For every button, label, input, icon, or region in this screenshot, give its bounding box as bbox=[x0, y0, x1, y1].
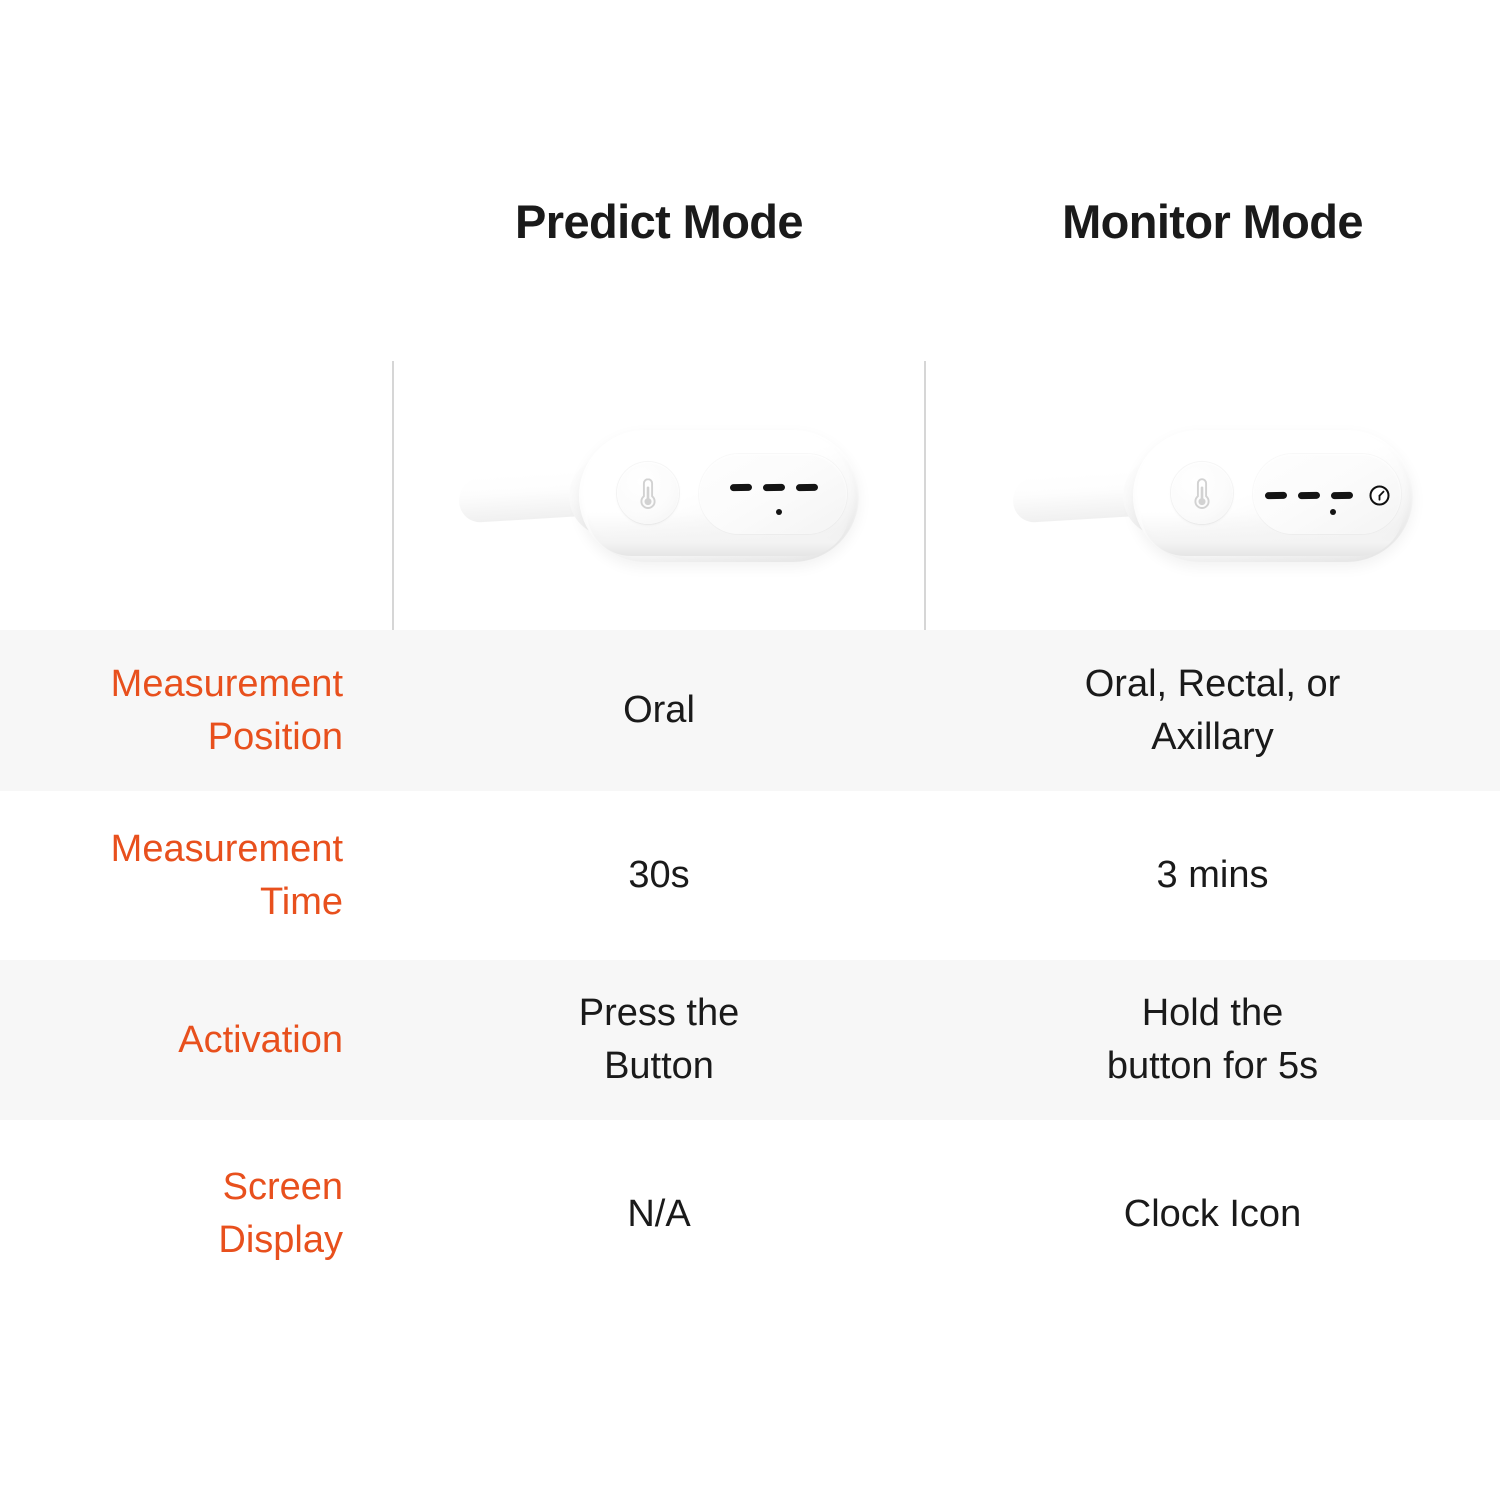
row-label-line: Screen bbox=[218, 1161, 343, 1214]
row-label-line: Measurement bbox=[111, 658, 343, 711]
thermometer-predict bbox=[459, 416, 859, 576]
cell-monitor-activation: Hold the button for 5s bbox=[925, 960, 1500, 1120]
cell-value-line: 3 mins bbox=[1157, 849, 1269, 902]
display-decimal-dot bbox=[1330, 509, 1336, 515]
cell-value-line: Oral bbox=[623, 684, 695, 737]
row-label-measurement-position: Measurement Position bbox=[0, 630, 393, 791]
cell-value-line: Axillary bbox=[1085, 711, 1341, 764]
row-label-line: Position bbox=[111, 711, 343, 764]
cell-value-line: 30s bbox=[628, 849, 689, 902]
display-dash-2 bbox=[763, 483, 785, 490]
table-row: Measurement Time 30s 3 mins bbox=[0, 791, 1500, 960]
row-label-line: Display bbox=[218, 1214, 343, 1267]
row-label-activation: Activation bbox=[0, 960, 393, 1120]
row-label-line: Measurement bbox=[111, 823, 343, 876]
table-row: Screen Display N/A Clock Icon bbox=[0, 1120, 1500, 1308]
column-header-monitor-mode: Monitor Mode bbox=[925, 190, 1500, 254]
thermometer-icon bbox=[635, 476, 661, 510]
device-image-predict bbox=[393, 361, 925, 630]
table-row: Measurement Position Oral Oral, Rectal, … bbox=[0, 630, 1500, 791]
display-segment-group bbox=[1253, 484, 1401, 507]
row-label-line: Activation bbox=[178, 1014, 343, 1067]
row-label-screen-display: Screen Display bbox=[0, 1120, 393, 1308]
thermometer-monitor bbox=[1013, 416, 1413, 576]
product-image-band bbox=[0, 361, 1500, 630]
cell-predict-measurement-position: Oral bbox=[393, 630, 925, 791]
cell-value-line: button for 5s bbox=[1107, 1040, 1318, 1093]
cell-value-line: N/A bbox=[627, 1188, 690, 1241]
cell-predict-measurement-time: 30s bbox=[393, 791, 925, 960]
cell-predict-activation: Press the Button bbox=[393, 960, 925, 1120]
display-dash-3 bbox=[1330, 491, 1352, 498]
display-dash-1 bbox=[730, 483, 752, 490]
thermometer-power-button[interactable] bbox=[617, 462, 679, 524]
cell-monitor-measurement-time: 3 mins bbox=[925, 791, 1500, 960]
thermometer-display-screen bbox=[699, 454, 847, 534]
display-dash-2 bbox=[1297, 491, 1319, 498]
cell-monitor-screen-display: Clock Icon bbox=[925, 1120, 1500, 1308]
clock-icon bbox=[1368, 484, 1391, 507]
display-dash-3 bbox=[796, 483, 818, 490]
cell-value-line: Button bbox=[579, 1040, 740, 1093]
row-label-measurement-time: Measurement Time bbox=[0, 791, 393, 960]
cell-value-line: Hold the bbox=[1107, 987, 1318, 1040]
table-row: Activation Press the Button Hold the but… bbox=[0, 960, 1500, 1120]
cell-value-line: Oral, Rectal, or bbox=[1085, 658, 1341, 711]
column-header-predict-mode: Predict Mode bbox=[393, 190, 925, 254]
thermometer-icon bbox=[1189, 476, 1215, 510]
display-decimal-dot bbox=[776, 509, 782, 515]
display-dash-1 bbox=[1264, 491, 1286, 498]
cell-monitor-measurement-position: Oral, Rectal, or Axillary bbox=[925, 630, 1500, 791]
cell-predict-screen-display: N/A bbox=[393, 1120, 925, 1308]
row-label-line: Time bbox=[111, 876, 343, 929]
display-segment-group bbox=[699, 484, 847, 491]
comparison-table: Measurement Position Oral Oral, Rectal, … bbox=[0, 630, 1500, 1308]
column-headers: Predict Mode Monitor Mode bbox=[0, 190, 1500, 262]
cell-value-line: Press the bbox=[579, 987, 740, 1040]
thermometer-display-screen bbox=[1253, 454, 1401, 534]
cell-value-line: Clock Icon bbox=[1124, 1188, 1301, 1241]
thermometer-power-button[interactable] bbox=[1171, 462, 1233, 524]
device-image-monitor bbox=[925, 361, 1500, 630]
comparison-sheet: Predict Mode Monitor Mode bbox=[0, 0, 1500, 1500]
